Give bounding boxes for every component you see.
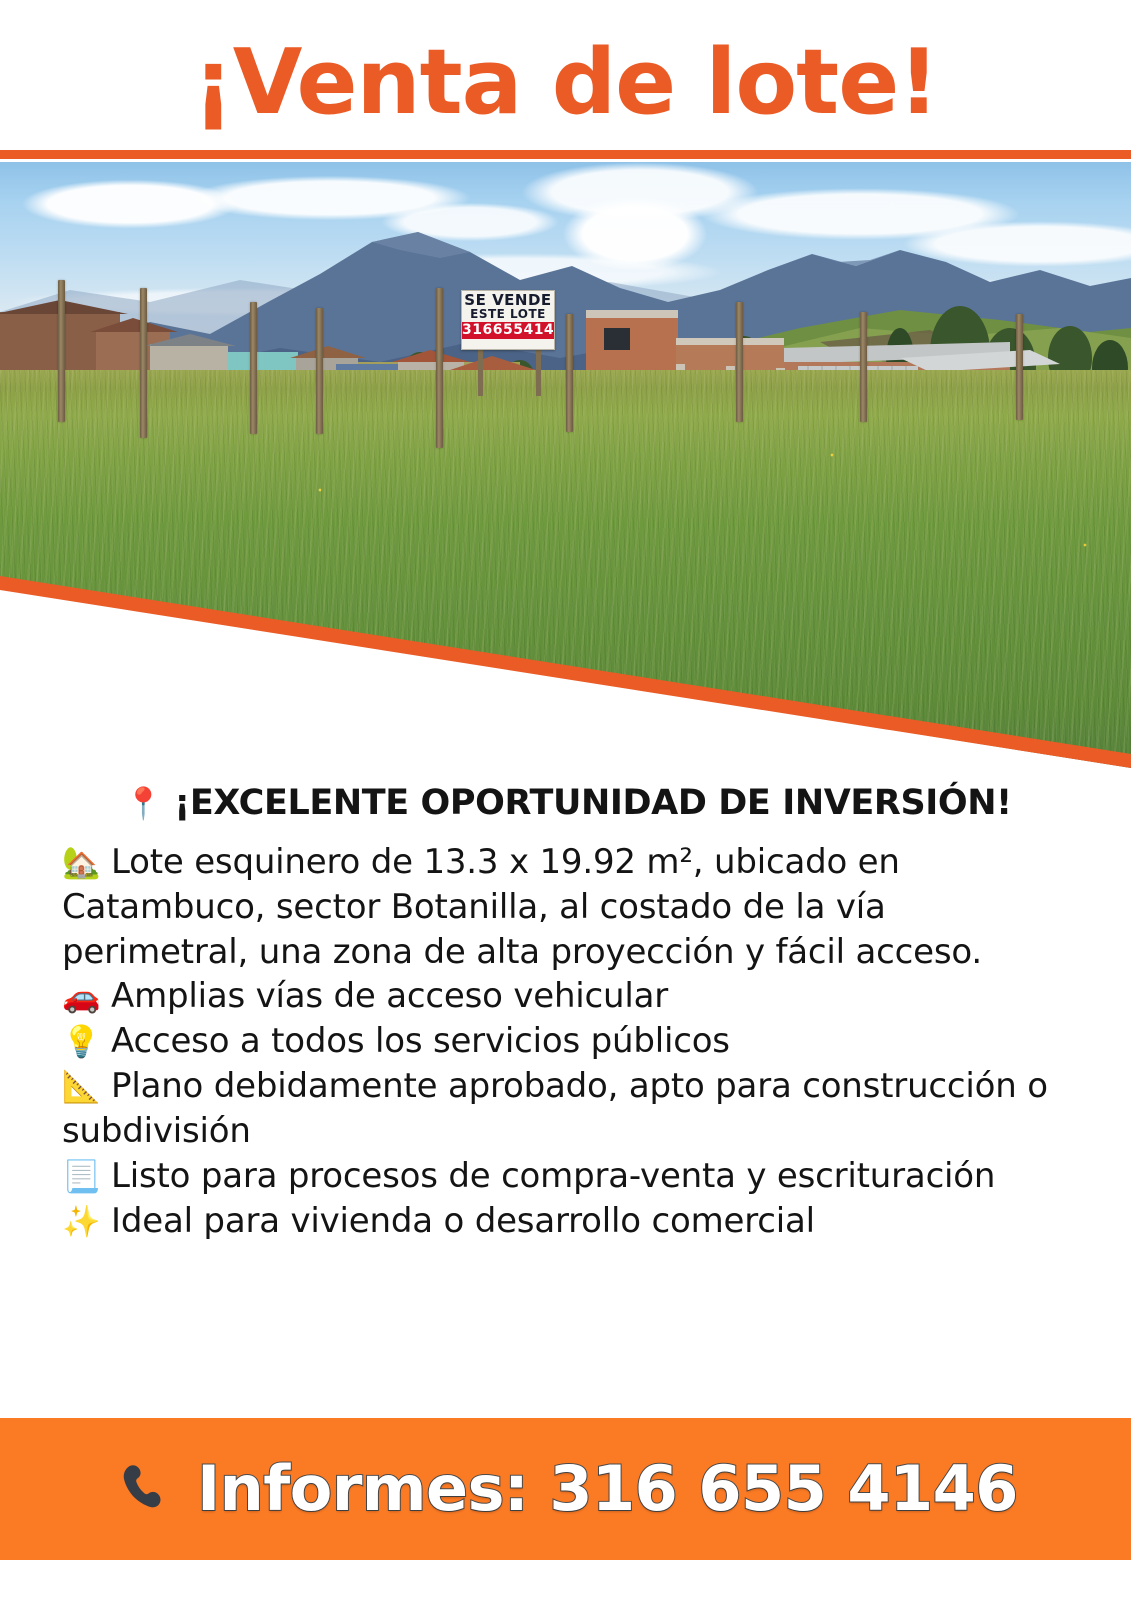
sign-line-1: SE VENDE: [462, 292, 554, 308]
fence-post: [566, 314, 573, 432]
list-item-text: Listo para procesos de compra-venta y es…: [111, 1156, 995, 1196]
sign-post: [478, 344, 483, 396]
section-headline: 📍 ¡EXCELENTE OPORTUNIDAD DE INVERSIÓN!: [62, 782, 1074, 826]
fence-post: [316, 308, 323, 434]
contact-footer[interactable]: Informes: 316 655 4146: [0, 1418, 1131, 1560]
phone-icon: [113, 1458, 175, 1520]
photo-sky: SE VENDE ESTE LOTE 3166554146: [0, 162, 1131, 768]
list-item: ✨ Ideal para vivienda o desarrollo comer…: [62, 1199, 1074, 1244]
list-item: 🏡 Lote esquinero de 13.3 x 19.92 m², ubi…: [62, 840, 1074, 975]
house-icon: 🏡: [62, 845, 100, 881]
list-item-text: Acceso a todos los servicios públicos: [111, 1021, 730, 1061]
location-pin-icon: 📍: [124, 786, 162, 822]
fence-post: [1016, 314, 1023, 420]
page-title: ¡Venta de lote!: [0, 38, 1131, 128]
contact-phone-text: Informes: 316 655 4146: [197, 1458, 1018, 1520]
list-item: 📃 Listo para procesos de compra-venta y …: [62, 1154, 1074, 1199]
fence-post: [860, 312, 867, 422]
description-block: 📍 ¡EXCELENTE OPORTUNIDAD DE INVERSIÓN! 🏡…: [62, 782, 1074, 1244]
sparkles-icon: ✨: [62, 1204, 100, 1240]
fence-post: [250, 302, 257, 434]
feature-list: 🏡 Lote esquinero de 13.3 x 19.92 m², ubi…: [62, 840, 1074, 1244]
document-icon: 📃: [62, 1159, 100, 1195]
header-divider: [0, 150, 1131, 159]
se-vende-sign: SE VENDE ESTE LOTE 3166554146: [461, 290, 555, 350]
triangular-ruler-icon: 📐: [62, 1069, 100, 1105]
sign-post: [536, 344, 541, 396]
list-item-text: Amplias vías de acceso vehicular: [111, 976, 668, 1016]
list-item-text: Lote esquinero de 13.3 x 19.92 m², ubica…: [62, 842, 982, 972]
fence-post: [436, 288, 443, 448]
list-item-text: Plano debidamente aprobado, apto para co…: [62, 1066, 1048, 1151]
list-item-text: Ideal para vivienda o desarrollo comerci…: [111, 1201, 815, 1241]
lightbulb-icon: 💡: [62, 1024, 100, 1060]
car-icon: 🚗: [62, 979, 100, 1015]
sign-line-2: ESTE LOTE: [462, 308, 554, 321]
list-item: 📐 Plano debidamente aprobado, apto para …: [62, 1064, 1074, 1154]
fence-post: [58, 280, 65, 422]
sign-phone-number: 3166554146: [462, 322, 554, 339]
fence-post: [140, 288, 147, 438]
property-photo: SE VENDE ESTE LOTE 3166554146: [0, 162, 1131, 768]
list-item: 🚗 Amplias vías de acceso vehicular: [62, 974, 1074, 1019]
fence-post: [736, 302, 743, 422]
list-item: 💡 Acceso a todos los servicios públicos: [62, 1019, 1074, 1064]
section-headline-text: ¡EXCELENTE OPORTUNIDAD DE INVERSIÓN!: [174, 783, 1011, 823]
